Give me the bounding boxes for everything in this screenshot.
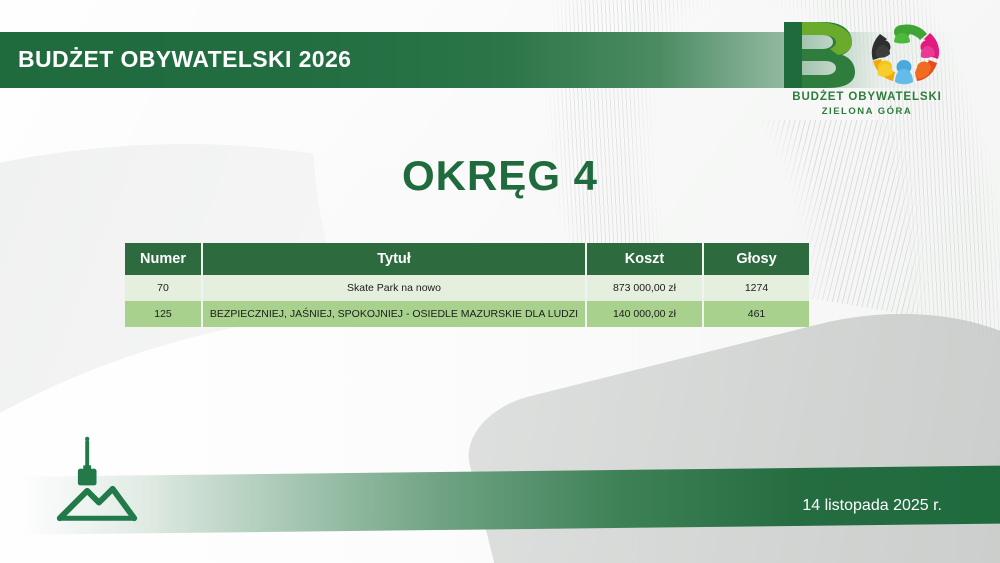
column-header-tytul: Tytuł [202, 243, 586, 275]
slide-title: OKRĘG 4 [0, 152, 1000, 200]
table-row: 125 BEZPIECZNIEJ, JAŚNIEJ, SPOKOJNIEJ - … [125, 301, 809, 327]
table-header-row: Numer Tytuł Koszt Głosy [125, 243, 809, 275]
column-header-koszt: Koszt [586, 243, 703, 275]
zielona-gora-city-emblem-icon [48, 432, 146, 530]
cell-numer: 125 [125, 301, 202, 327]
cell-tytul: Skate Park na nowo [202, 275, 586, 301]
cell-tytul: BEZPIECZNIEJ, JAŚNIEJ, SPOKOJNIEJ - OSIE… [202, 301, 586, 327]
budzet-obywatelski-logo-icon [772, 18, 962, 90]
header-title: BUDŻET OBYWATELSKI 2026 [18, 46, 351, 73]
column-header-glosy: Głosy [703, 243, 809, 275]
presentation-slide: BUDŻET OBYWATELSKI 2026 [0, 0, 1000, 563]
cell-numer: 70 [125, 275, 202, 301]
brand-name-line-1: BUDŻET OBYWATELSKI [772, 91, 962, 103]
footer-date: 14 listopada 2025 r. [802, 497, 942, 515]
cell-koszt: 873 000,00 zł [586, 275, 703, 301]
brand-name-line-2: ZIELONA GÓRA [772, 106, 962, 117]
column-header-numer: Numer [125, 243, 202, 275]
cell-glosy: 461 [703, 301, 809, 327]
cell-glosy: 1274 [703, 275, 809, 301]
cell-koszt: 140 000,00 zł [586, 301, 703, 327]
table-row: 70 Skate Park na nowo 873 000,00 zł 1274 [125, 275, 809, 301]
brand-logo: BUDŻET OBYWATELSKI ZIELONA GÓRA [772, 18, 962, 122]
projects-table: Numer Tytuł Koszt Głosy 70 Skate Park na… [125, 243, 809, 327]
